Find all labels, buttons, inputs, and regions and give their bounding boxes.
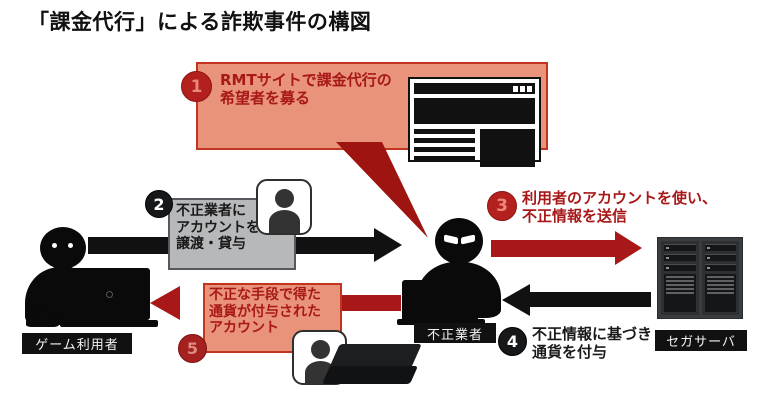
user-laptop-dot [106,291,113,298]
person-avatar-icon-step2 [256,179,312,235]
fraudster-laptop-screen [402,280,478,322]
arrow-server-to-fraudster [529,292,651,307]
arrow-server-to-fraudster-head [502,284,530,316]
user-head [40,227,86,269]
server-slot [664,264,696,271]
server-slot [664,244,696,251]
server-vent [707,280,735,282]
label-game-user: ゲーム利用者 [22,333,132,354]
step-3-number: 3 [487,191,517,221]
avatar-body [269,210,300,233]
server-led [666,267,669,269]
server-slot [705,244,737,251]
server-vent [666,288,694,290]
server-vents [705,274,737,312]
browser-btn-1 [513,86,518,92]
step-1-text: RMTサイトで課金代行の 希望者を募る [220,72,410,107]
arrow-fraudster-to-server-head [615,231,642,265]
arrow-fraudster-to-user-head [150,286,180,320]
server-led [666,257,669,259]
server-rack-icon [657,237,743,319]
browser-btn-2 [520,86,525,92]
server-slot [705,264,737,271]
arrow-fraudster-to-server [491,240,617,257]
server-led [707,247,710,249]
server-led [707,257,710,259]
game-console-icon [320,340,430,398]
server-vents [664,274,696,312]
user-child-body [26,311,59,327]
step-2-number: 2 [145,190,173,218]
browser-window-icon [408,77,541,162]
browser-line [414,129,475,134]
browser-line [414,138,475,143]
server-vent [666,292,694,294]
server-slot [705,254,737,261]
browser-line [414,156,475,161]
server-vent [707,288,735,290]
server-vent [707,284,735,286]
browser-text-lines [414,129,475,167]
server-tower-right [702,241,740,315]
server-vent [707,276,735,278]
server-vent [707,292,735,294]
step-4-number: 4 [498,327,527,356]
server-slot [664,254,696,261]
user-eye-left [52,243,57,248]
page-title: 「課金代行」による詐欺事件の構図 [28,6,371,36]
fraudster-head [435,218,483,264]
step-5-number: 5 [178,334,207,363]
browser-image-block [480,129,535,167]
step-3-text: 利用者のアカウントを使い、 不正情報を送信 [522,190,772,225]
user-eye-right [68,243,73,248]
server-vent [666,284,694,286]
avatar-head [275,189,294,208]
browser-line [414,147,475,152]
person-with-laptop-icon [20,225,160,330]
server-vent [666,280,694,282]
step-1-number: 1 [181,71,212,102]
server-led [707,267,710,269]
browser-content [414,129,535,167]
server-tower-left [661,241,699,315]
console-front-face [322,366,418,384]
user-laptop-base [60,320,158,327]
step-4-text: 不正情報に基づき 通貨を付与 [532,326,692,361]
server-led [666,247,669,249]
browser-titlebar [414,83,535,94]
browser-btn-3 [527,86,532,92]
arrow-user-to-fraudster-head [374,228,402,262]
infographic-canvas: 「課金代行」による詐欺事件の構図 1 RMTサイトで課金代行の 希望者を募る [0,0,780,404]
server-vent [666,276,694,278]
browser-banner [414,98,535,124]
